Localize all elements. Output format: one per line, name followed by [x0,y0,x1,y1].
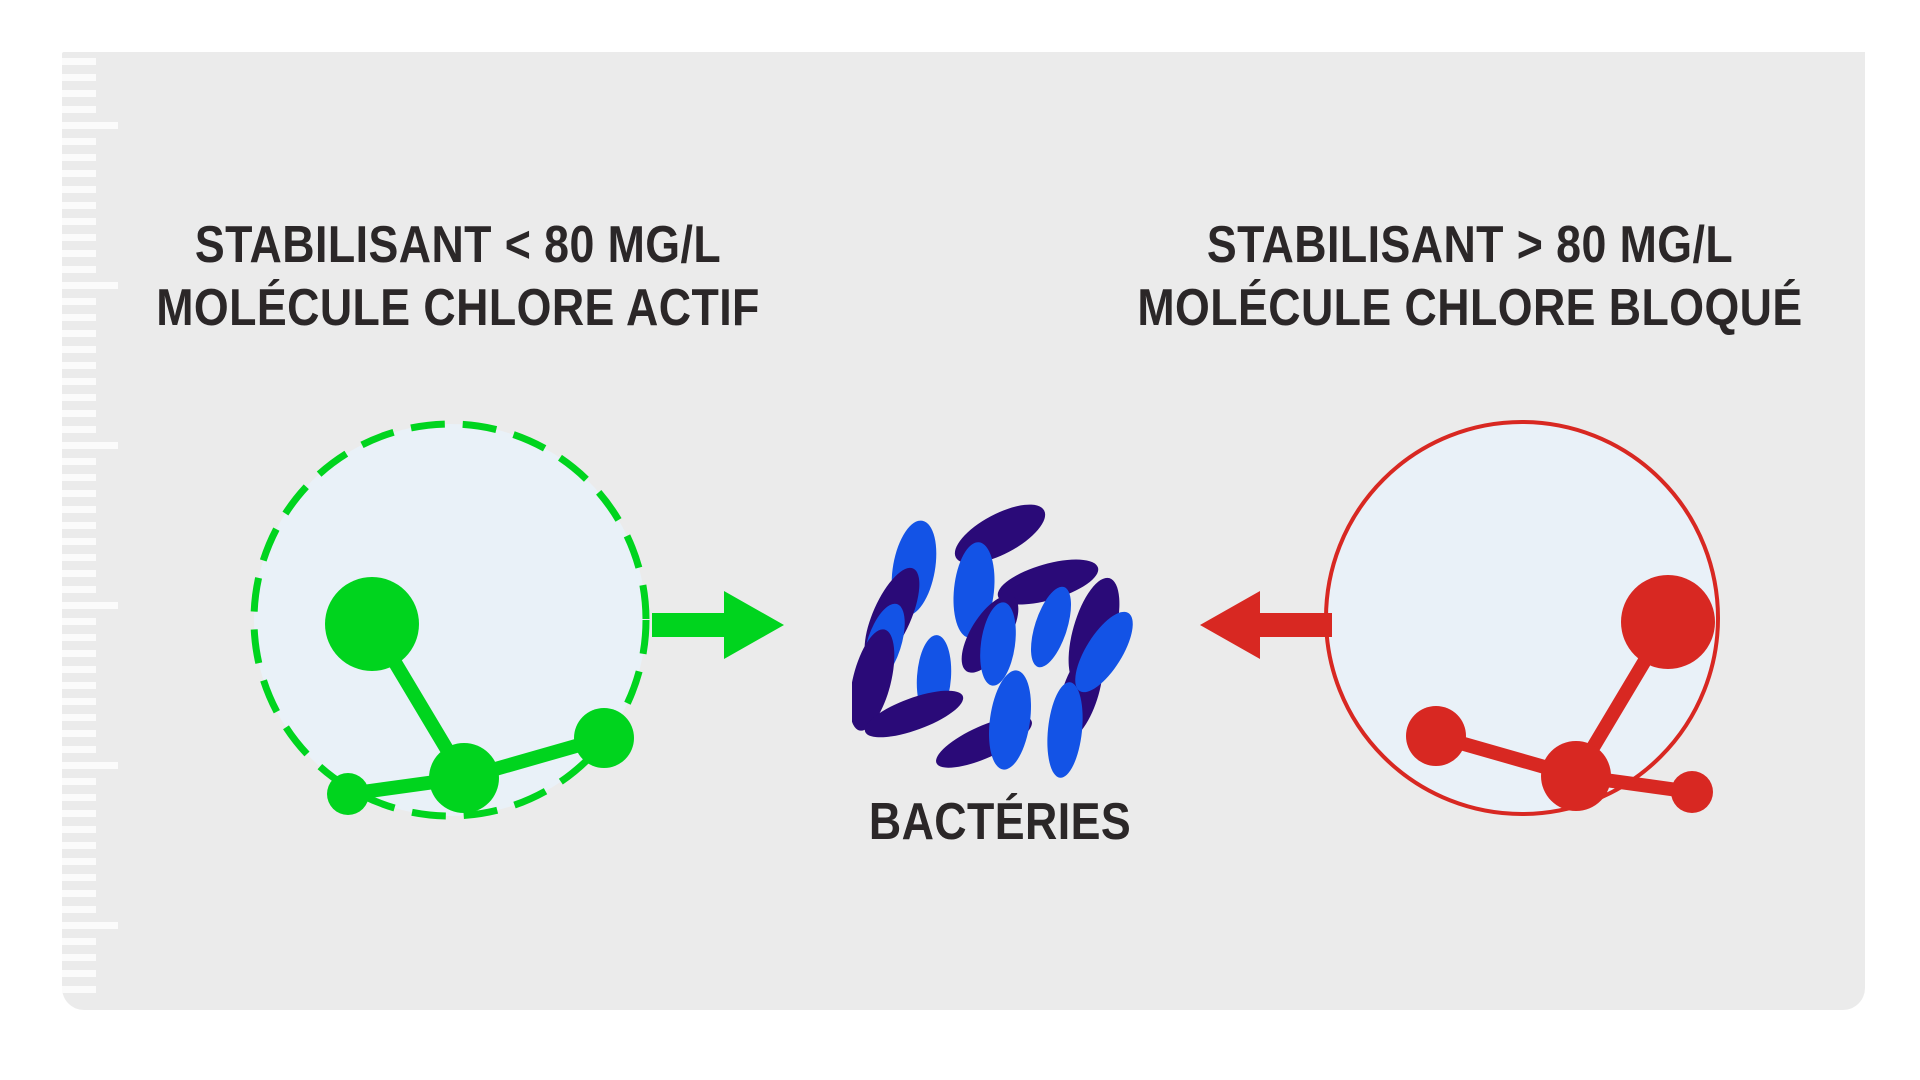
ruler-tick-minor [62,218,96,225]
ruler-tick-minor [62,986,96,993]
blocked-chlorine-molecule-svg [1312,408,1732,828]
ruler-tick-major [62,762,118,769]
ruler-tick-minor [62,650,96,657]
molecule-atom-node-small [327,773,369,815]
ruler-tick-minor [62,778,96,785]
right-heading: STABILISANT > 80 MG/L MOLÉCULE CHLORE BL… [1135,214,1806,341]
ruler-tick-minor [62,394,96,401]
ruler-tick-minor [62,954,96,961]
ruler-tick-minor [62,330,96,337]
ruler-tick-minor [62,714,96,721]
left-heading-line-1: STABILISANT < 80 MG/L [123,214,794,277]
molecule-atom-node-center [429,743,499,813]
arrow-right-icon [652,575,802,675]
ruler-tick-minor [62,410,96,417]
ruler-tick-minor [62,138,96,145]
ruler-tick-minor [62,186,96,193]
bacteria-rods [852,493,1144,780]
bacteria-cluster-svg [852,462,1152,782]
ruler-tick-minor [62,938,96,945]
ruler-tick-major [62,442,118,449]
ruler-tick-minor [62,730,96,737]
ruler-tick-minor [62,682,96,689]
ruler-tick-minor [62,266,96,273]
ruler-tick-minor [62,842,96,849]
ruler-tick-minor [62,538,96,545]
ruler-tick-minor [62,970,96,977]
right-heading-line-2: MOLÉCULE CHLORE BLOQUÉ [1135,277,1806,340]
ruler-tick-minor [62,154,96,161]
ruler-tick-minor [62,698,96,705]
active-chlorine-molecule [240,410,660,830]
ruler-tick-minor [62,634,96,641]
left-heading-line-2: MOLÉCULE CHLORE ACTIF [123,277,794,340]
ruler-tick-minor [62,250,96,257]
molecule-atom-node-medium [1406,706,1466,766]
ruler-tick-minor [62,378,96,385]
ruler-tick-minor [62,618,96,625]
ruler-tick-minor [62,362,96,369]
ruler-scale [62,52,122,1010]
ruler-tick-minor [62,666,96,673]
ruler-tick-minor [62,314,96,321]
ruler-tick-minor [62,746,96,753]
right-heading-line-1: STABILISANT > 80 MG/L [1135,214,1806,277]
ruler-tick-minor [62,458,96,465]
bacteria-label: BACTÉRIES [819,792,1180,852]
molecule-atom-node-large [325,577,419,671]
ruler-tick-major [62,922,118,929]
ruler-tick-minor [62,490,96,497]
ruler-tick-minor [62,346,96,353]
ruler-tick-minor [62,74,96,81]
molecule-atom-node-large [1621,575,1715,669]
ruler-tick-minor [62,874,96,881]
active-chlorine-molecule-svg [240,410,660,830]
ruler-tick-minor [62,826,96,833]
blocked-chlorine-molecule [1312,408,1732,828]
ruler-tick-minor [62,586,96,593]
arrow-left-icon [1182,575,1332,675]
ruler-tick-major [62,122,118,129]
molecule-atom-node-medium [574,708,634,768]
ruler-tick-minor [62,170,96,177]
ruler-tick-minor [62,570,96,577]
ruler-tick-minor [62,906,96,913]
ruler-tick-major [62,282,118,289]
ruler-tick-minor [62,858,96,865]
ruler-tick-minor [62,90,96,97]
molecule-atom-node-small [1671,771,1713,813]
ruler-tick-minor [62,106,96,113]
ruler-tick-minor [62,58,96,65]
ruler-tick-minor [62,298,96,305]
ruler-tick-minor [62,234,96,241]
ruler-tick-minor [62,794,96,801]
ruler-tick-minor [62,890,96,897]
bacteria-cluster [852,462,1152,782]
infographic-canvas: STABILISANT < 80 MG/L MOLÉCULE CHLORE AC… [0,0,1920,1080]
ruler-tick-minor [62,202,96,209]
ruler-tick-major [62,602,118,609]
ruler-tick-minor [62,522,96,529]
ruler-tick-minor [62,474,96,481]
ruler-tick-minor [62,810,96,817]
ruler-tick-minor [62,506,96,513]
ruler-tick-minor [62,554,96,561]
left-heading: STABILISANT < 80 MG/L MOLÉCULE CHLORE AC… [123,214,794,341]
ruler-tick-minor [62,426,96,433]
molecule-atom-node-center [1541,741,1611,811]
